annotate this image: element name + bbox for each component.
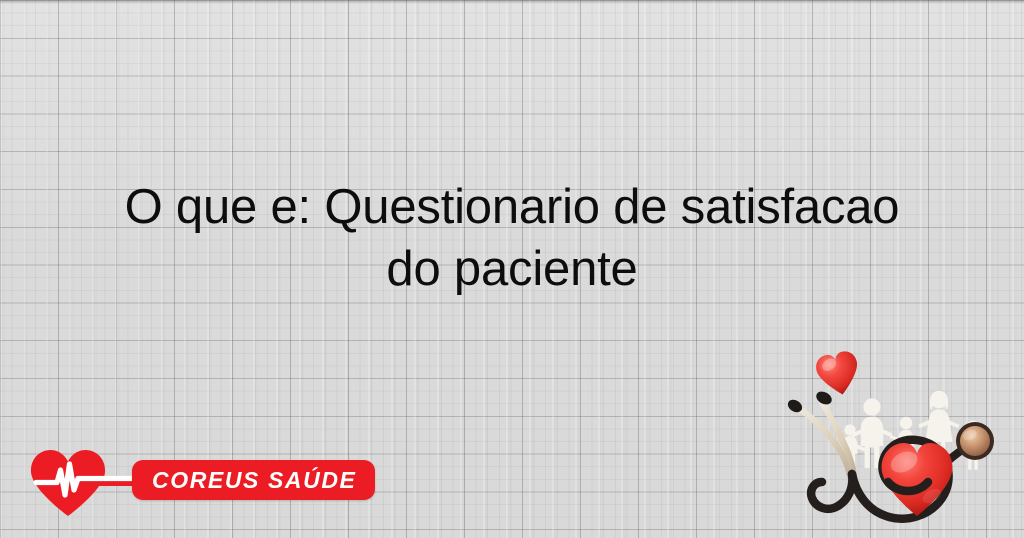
healthcare-family-illustration	[782, 348, 1024, 538]
brand-name-label: COREUS SAÚDE	[132, 460, 375, 500]
stethoscope-chest-piece	[956, 422, 994, 460]
small-heart-icon	[814, 349, 863, 399]
brand-logo[interactable]: COREUS SAÚDE	[28, 448, 348, 518]
page-title-line-1: O que e: Questionario de satisfacao	[125, 180, 900, 234]
page-title-line-2: do paciente	[386, 242, 637, 296]
slide-canvas: O que e: Questionario de satisfacaodo pa…	[0, 0, 1024, 538]
heart-with-ecg-icon	[28, 448, 148, 518]
page-title: O que e: Questionario de satisfacaodo pa…	[0, 176, 1024, 300]
top-edge-shadow	[0, 0, 1024, 4]
